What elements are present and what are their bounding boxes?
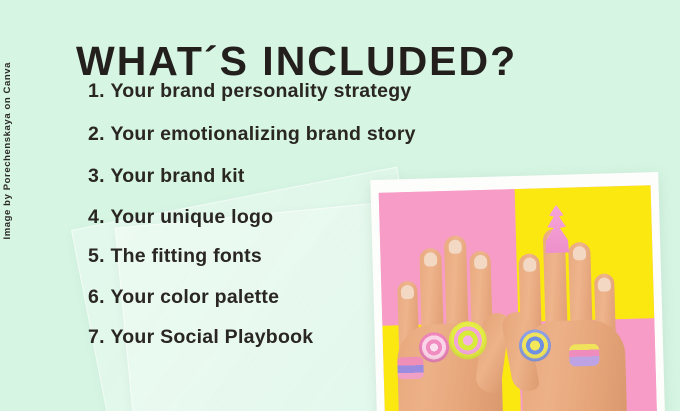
list-item-number: 7. xyxy=(88,328,110,348)
list-item: 7. Your Social Playbook xyxy=(88,328,558,348)
list-item-label: Your unique logo xyxy=(110,206,273,228)
list-item-number: 4. xyxy=(88,208,110,228)
list-item: 6. Your color palette xyxy=(88,288,558,308)
list-item-label: Your brand kit xyxy=(110,165,244,187)
included-items-list: 1. Your brand personality strategy 2. Yo… xyxy=(88,82,558,348)
list-item-label: Your Social Playbook xyxy=(110,326,313,348)
list-item-label: Your brand personality strategy xyxy=(110,80,411,102)
list-item-number: 2. xyxy=(88,125,110,145)
list-item: 5. The fitting fonts xyxy=(88,247,558,267)
list-item-number: 5. xyxy=(88,247,110,267)
list-item: 4. Your unique logo xyxy=(88,208,558,228)
list-item-label: The fitting fonts xyxy=(110,245,262,267)
list-item: 2. Your emotionalizing brand story xyxy=(88,125,558,145)
list-item-label: Your color palette xyxy=(110,286,279,308)
list-item: 3. Your brand kit xyxy=(88,167,558,187)
list-item-number: 3. xyxy=(88,167,110,187)
list-item-number: 1. xyxy=(88,82,110,102)
candy-ring-lilac-band xyxy=(569,344,600,367)
list-item-number: 6. xyxy=(88,288,110,308)
fingernail xyxy=(573,246,586,260)
page-title: WHAT´S INCLUDED? xyxy=(76,41,646,82)
poster-canvas: WHAT´S INCLUDED? 1. Your brand personali… xyxy=(0,0,680,411)
list-item-label: Your emotionalizing brand story xyxy=(110,123,415,145)
list-item: 1. Your brand personality strategy xyxy=(88,82,558,102)
candy-ring-striped-band xyxy=(397,357,424,380)
fingernail xyxy=(598,277,611,291)
image-credit: Image by Porechenskaya on Canva xyxy=(2,62,13,240)
